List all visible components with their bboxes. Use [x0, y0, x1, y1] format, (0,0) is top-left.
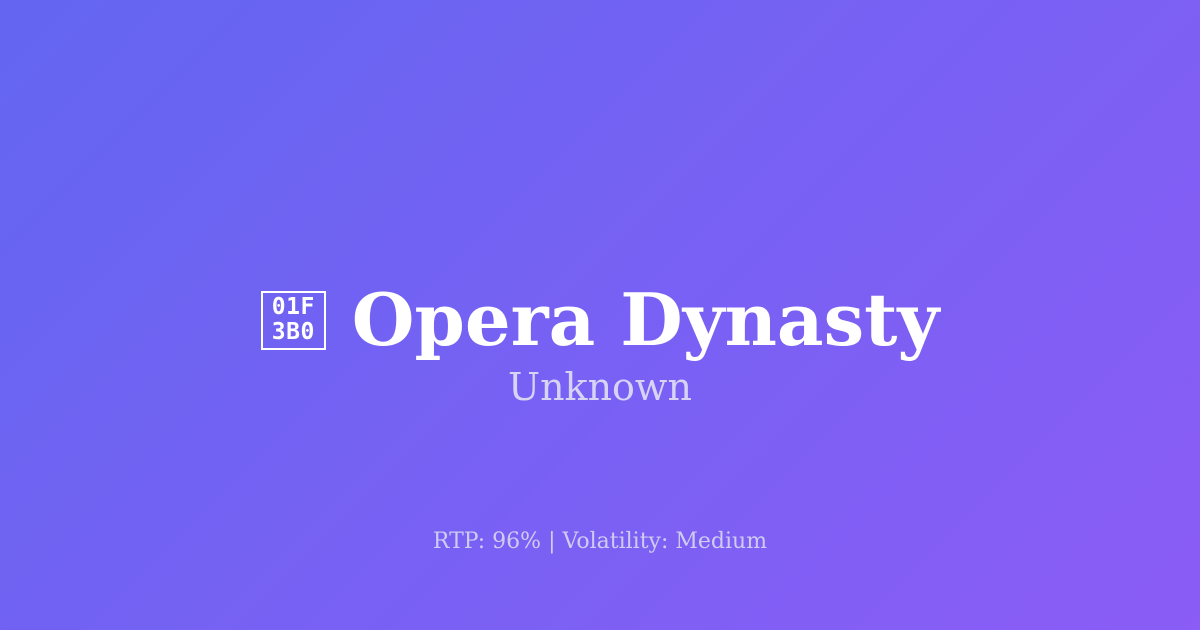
page-title: Opera Dynasty: [352, 280, 939, 360]
codepoint-bottom: 3B0: [272, 320, 315, 345]
game-stats: RTP: 96% | Volatility: Medium: [0, 528, 1200, 556]
codepoint-top: 01F: [272, 295, 315, 320]
provider-label: Unknown: [0, 364, 1200, 410]
slot-machine-icon: 01F 3B0: [261, 291, 326, 350]
game-promo-card: 01F 3B0 Opera Dynasty Unknown RTP: 96% |…: [0, 0, 1200, 630]
